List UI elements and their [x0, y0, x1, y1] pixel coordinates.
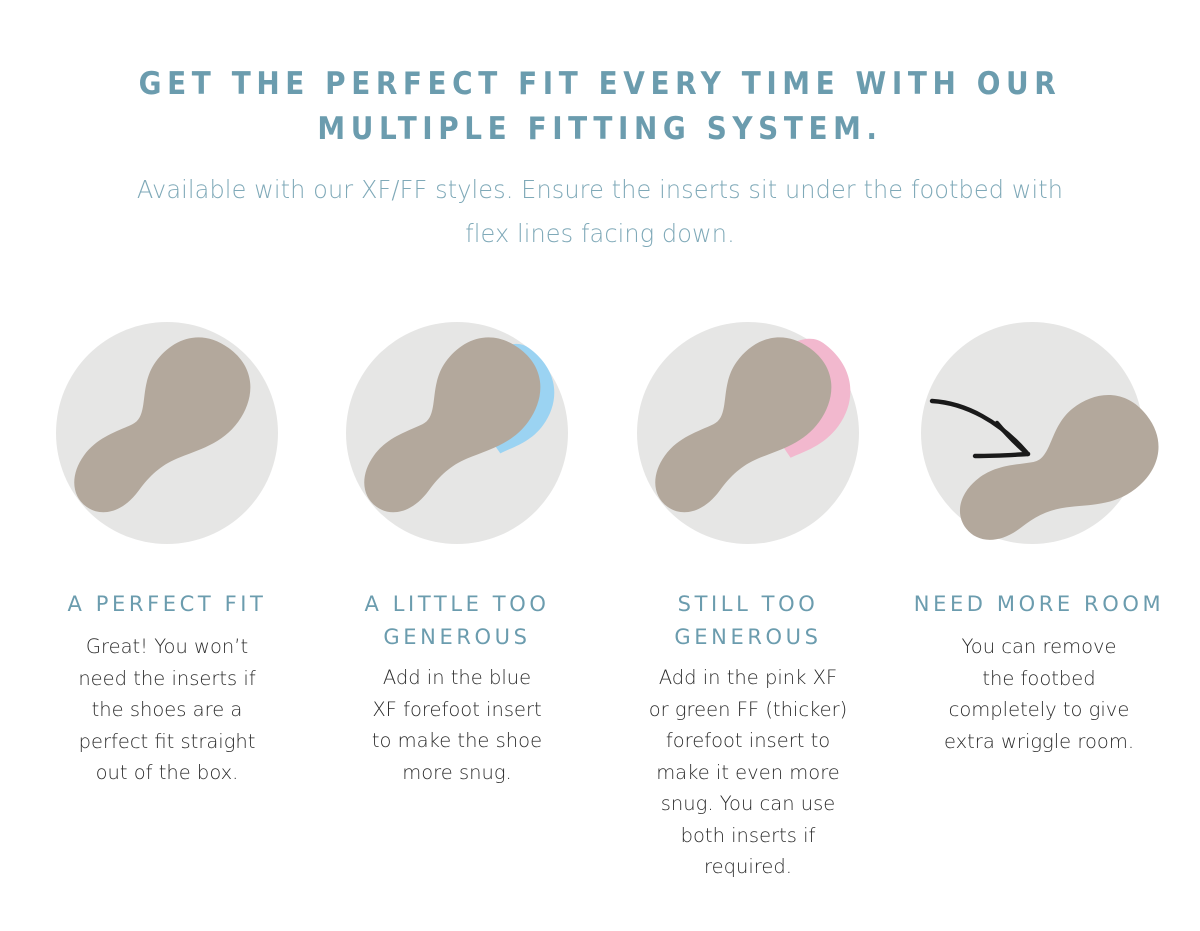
fitting-system-infographic: GET THE PERFECT FIT EVERY TIME WITH OUR … — [0, 0, 1200, 931]
fit-option-title: STILL TOO GENEROUS — [613, 588, 883, 654]
fit-option-title: A PERFECT FIT — [32, 588, 302, 621]
still-too-generous-svg — [623, 320, 873, 570]
illustration-perfect-fit — [42, 320, 292, 570]
fit-option-perfect-fit: A PERFECT FIT Great! You won’t need the … — [26, 320, 308, 883]
fit-option-description: Great! You won’t need the inserts if the… — [42, 631, 292, 789]
fit-option-title: A LITTLE TOO GENEROUS — [322, 588, 592, 654]
illustration-need-more-room — [914, 320, 1164, 570]
illustration-little-too-generous — [332, 320, 582, 570]
fit-option-need-more-room: NEED MORE ROOM You can remove the footbe… — [898, 320, 1180, 883]
fit-option-title: NEED MORE ROOM — [904, 588, 1174, 621]
need-more-room-svg — [914, 320, 1164, 570]
fit-option-description: Add in the pink XF or green FF (thicker)… — [623, 662, 873, 883]
fit-option-description: Add in the blue XF forefoot insert to ma… — [332, 662, 582, 788]
fit-option-still-too-generous: STILL TOO GENEROUS Add in the pink XF or… — [607, 320, 889, 883]
fit-option-little-too-generous: A LITTLE TOO GENEROUS Add in the blue XF… — [316, 320, 598, 883]
page-title: GET THE PERFECT FIT EVERY TIME WITH OUR … — [123, 62, 1077, 152]
illustration-still-too-generous — [623, 320, 873, 570]
perfect-fit-svg — [42, 320, 292, 570]
fit-options-row: A PERFECT FIT Great! You won’t need the … — [0, 320, 1200, 883]
header: GET THE PERFECT FIT EVERY TIME WITH OUR … — [0, 0, 1200, 256]
little-too-generous-svg — [332, 320, 582, 570]
fit-option-description: You can remove the footbed completely to… — [914, 631, 1164, 757]
arrow-head-lower-icon — [975, 454, 1028, 456]
page-subtitle: Available with our XF/FF styles. Ensure … — [130, 168, 1071, 256]
